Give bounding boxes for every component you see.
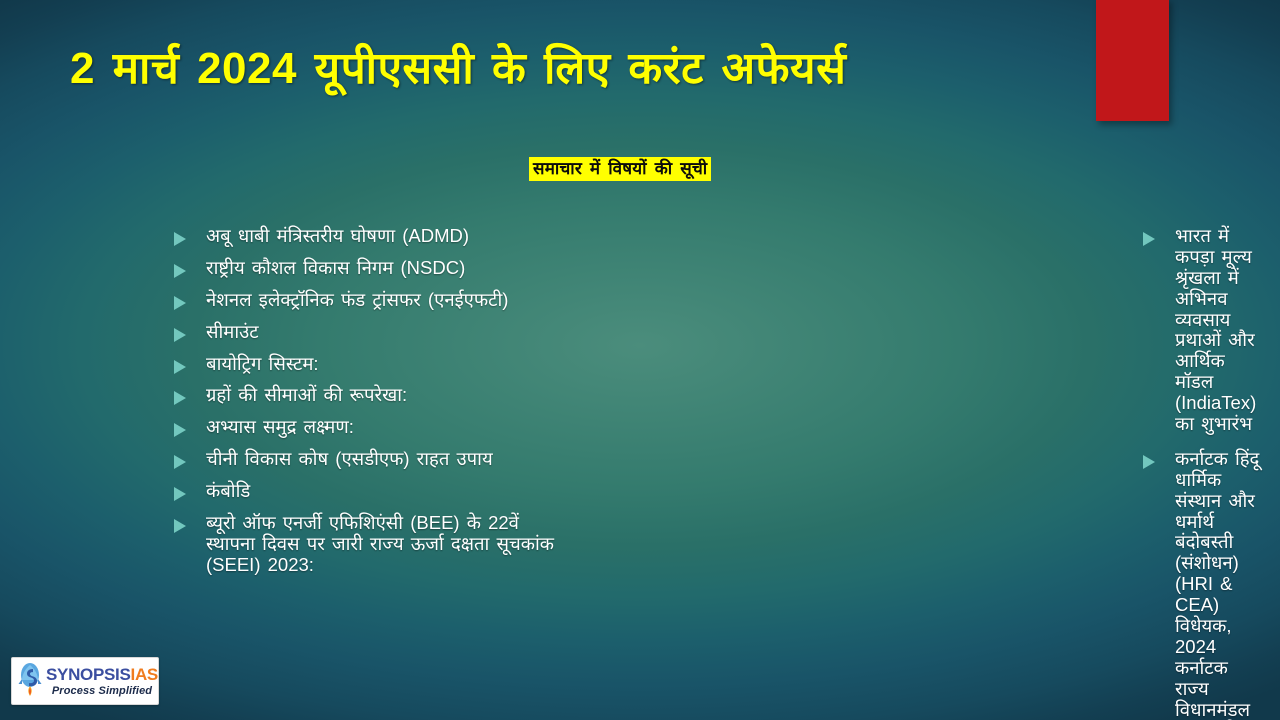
list-item-label: चीनी विकास कोष (एसडीएफ) राहत उपाय — [206, 449, 570, 470]
list-item[interactable]: कंबोडि — [168, 481, 570, 502]
subtitle-banner: समाचार में विषयों की सूची — [529, 157, 711, 181]
triangle-bullet-icon — [174, 391, 186, 405]
right-bullet-list: भारत में कपड़ा मूल्य श्रृंखला में अभिनव … — [1137, 226, 1260, 720]
list-item-label: राष्ट्रीय कौशल विकास निगम (NSDC) — [206, 258, 570, 279]
list-item-label: कंबोडि — [206, 481, 570, 502]
list-item[interactable]: बायोट्रिग सिस्टम: — [168, 354, 570, 375]
list-item-label: बायोट्रिग सिस्टम: — [206, 354, 570, 375]
list-item[interactable]: नेशनल इलेक्ट्रॉनिक फंड ट्रांसफर (एनईएफटी… — [168, 290, 570, 311]
list-item[interactable]: ब्यूरो ऑफ एनर्जी एफिशिएंसी (BEE) के 22वे… — [168, 513, 570, 576]
list-item[interactable]: भारत में कपड़ा मूल्य श्रृंखला में अभिनव … — [1137, 226, 1260, 435]
list-item-label: ग्रहों की सीमाओं की रूपरेखा: — [206, 385, 570, 406]
list-item[interactable]: अबू धाबी मंत्रिस्तरीय घोषणा (ADMD) — [168, 226, 570, 247]
left-bullet-list: अबू धाबी मंत्रिस्तरीय घोषणा (ADMD) राष्ट… — [168, 226, 570, 576]
brand-logo[interactable]: SYNOPSISIAS Process Simplified — [11, 657, 159, 705]
list-item-label: नेशनल इलेक्ट्रॉनिक फंड ट्रांसफर (एनईएफटी… — [206, 290, 570, 311]
list-item[interactable]: राष्ट्रीय कौशल विकास निगम (NSDC) — [168, 258, 570, 279]
triangle-bullet-icon — [174, 296, 186, 310]
list-item[interactable]: सीमाउंट — [168, 322, 570, 343]
list-item[interactable]: कर्नाटक हिंदू धार्मिक संस्थान और धर्मार्… — [1137, 449, 1260, 720]
list-item-label: सीमाउंट — [206, 322, 570, 343]
triangle-bullet-icon — [174, 328, 186, 342]
triangle-bullet-icon — [174, 487, 186, 501]
left-column: अबू धाबी मंत्रिस्तरीय घोषणा (ADMD) राष्ट… — [0, 226, 580, 720]
triangle-bullet-icon — [174, 264, 186, 278]
triangle-bullet-icon — [1143, 232, 1155, 246]
logo-text-block: SYNOPSISIAS Process Simplified — [46, 666, 158, 697]
presentation-slide: 2 मार्च 2024 यूपीएससी के लिए करंट अफेयर्… — [0, 0, 1280, 720]
list-item-label: अभ्यास समुद्र लक्ष्मण: — [206, 417, 570, 438]
page-title: 2 मार्च 2024 यूपीएससी के लिए करंट अफेयर्… — [70, 42, 1010, 97]
list-item-label: भारत में कपड़ा मूल्य श्रृंखला में अभिनव … — [1175, 226, 1260, 435]
logo-name-primary: SYNOPSIS — [46, 665, 131, 684]
triangle-bullet-icon — [174, 423, 186, 437]
triangle-bullet-icon — [174, 519, 186, 533]
logo-wordmark: SYNOPSISIAS — [46, 666, 158, 683]
triangle-bullet-icon — [174, 360, 186, 374]
logo-tagline: Process Simplified — [46, 686, 158, 697]
triangle-bullet-icon — [1143, 455, 1155, 469]
content-columns: अबू धाबी मंत्रिस्तरीय घोषणा (ADMD) राष्ट… — [0, 226, 1280, 720]
right-column: भारत में कपड़ा मूल्य श्रृंखला में अभिनव … — [580, 226, 1280, 720]
list-item[interactable]: ग्रहों की सीमाओं की रूपरेखा: — [168, 385, 570, 406]
rocket-icon — [17, 662, 43, 700]
list-item-label: कर्नाटक हिंदू धार्मिक संस्थान और धर्मार्… — [1175, 449, 1260, 720]
triangle-bullet-icon — [174, 455, 186, 469]
list-item-label: ब्यूरो ऑफ एनर्जी एफिशिएंसी (BEE) के 22वे… — [206, 513, 570, 576]
list-item[interactable]: चीनी विकास कोष (एसडीएफ) राहत उपाय — [168, 449, 570, 470]
subtitle-text: समाचार में विषयों की सूची — [529, 157, 711, 181]
triangle-bullet-icon — [174, 232, 186, 246]
list-item[interactable]: अभ्यास समुद्र लक्ष्मण: — [168, 417, 570, 438]
logo-name-secondary: IAS — [131, 665, 158, 684]
list-item-label: अबू धाबी मंत्रिस्तरीय घोषणा (ADMD) — [206, 226, 570, 247]
accent-block-decoration — [1096, 0, 1169, 121]
